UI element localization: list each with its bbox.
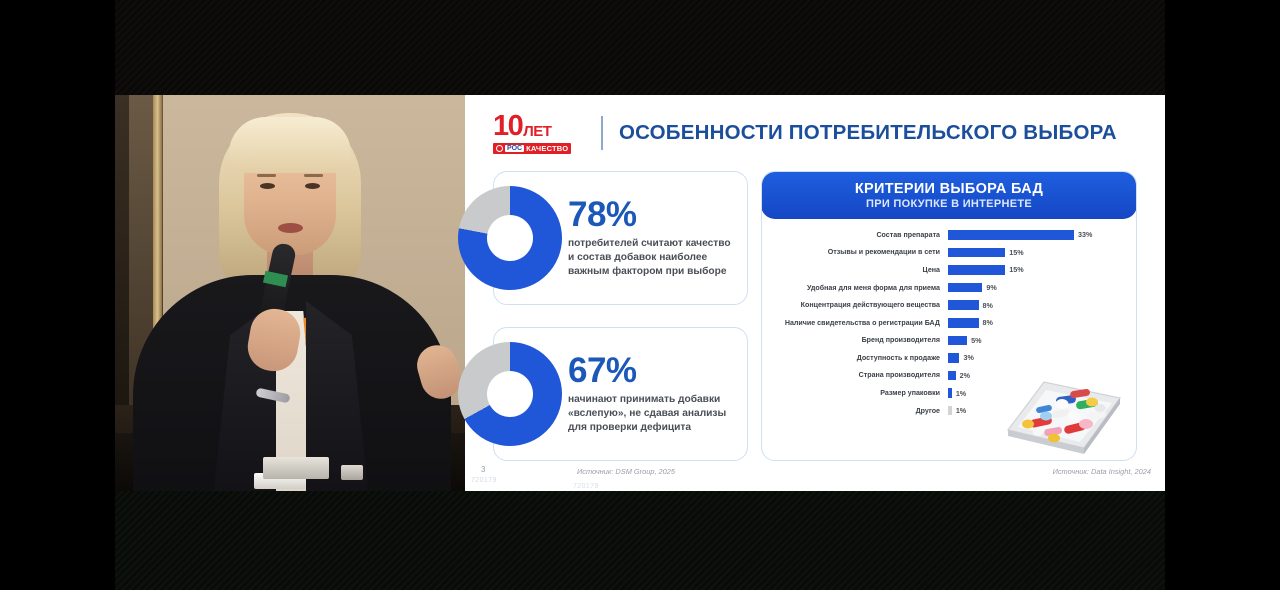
bar-chart: Состав препарата33%Отзывы и рекомендации…	[762, 226, 1130, 454]
bar-value-label: 1%	[956, 389, 966, 398]
donut-chart-78	[458, 186, 562, 290]
bar-row: Состав препарата33%	[762, 226, 1130, 244]
desk-small-object	[341, 465, 363, 480]
page-title: ОСОБЕННОСТИ ПОТРЕБИТЕЛЬСКОГО ВЫБОРА	[619, 121, 1117, 145]
bar-track: 5%	[948, 336, 1130, 346]
stat-description: потребителей считают качество и состав д…	[568, 237, 739, 278]
bar-track: 33%	[948, 230, 1130, 240]
logo-circle-icon	[496, 145, 503, 152]
source-right: Источник: Data Insight, 2024	[1053, 467, 1151, 476]
bar-row: Наличие свидетельства о регистрации БАД8…	[762, 314, 1130, 332]
bar-fill	[948, 336, 967, 346]
bar-category-label: Страна производителя	[762, 371, 948, 379]
speaker-eye-right	[305, 183, 320, 189]
logo-number: 10	[493, 112, 522, 141]
bar-fill	[948, 353, 959, 363]
header-divider	[601, 116, 603, 150]
bar-track: 3%	[948, 353, 1130, 363]
bar-fill	[948, 248, 1005, 258]
bar-category-label: Другое	[762, 407, 948, 415]
bar-row: Доступность к продаже3%	[762, 349, 1130, 367]
logo-kachestvo-text: КАЧЕСТВО	[526, 144, 568, 153]
bar-track: 2%	[948, 371, 1130, 381]
stat-card-67: 67% начинают принимать добавки «вслепую»…	[493, 327, 748, 461]
bar-row: Концентрация действующего вещества8%	[762, 296, 1130, 314]
bar-track: 8%	[948, 318, 1130, 328]
bar-category-label: Удобная для меня форма для приема	[762, 284, 948, 292]
bar-value-label: 33%	[1078, 230, 1092, 239]
bar-value-label: 15%	[1009, 265, 1023, 274]
chart-panel-header: КРИТЕРИИ ВЫБОРА БАД ПРИ ПОКУПКЕ В ИНТЕРН…	[761, 171, 1137, 219]
slide-header: 10 ЛЕТ РОС КАЧЕСТВО ОСОБЕННОСТИ ПОТРЕБИТ…	[493, 109, 1145, 157]
bar-value-label: 3%	[963, 353, 973, 362]
speaker-eyebrow-right	[304, 174, 323, 177]
bar-value-label: 8%	[983, 301, 993, 310]
speaker-video-pane	[115, 95, 465, 491]
stat-text-block: 67% начинают принимать добавки «вслепую»…	[562, 353, 747, 434]
bar-category-label: Состав препарата	[762, 231, 948, 239]
bar-track: 8%	[948, 300, 1130, 310]
chart-title: КРИТЕРИИ ВЫБОРА БАД	[855, 181, 1043, 197]
bar-row: Удобная для меня форма для приема9%	[762, 279, 1130, 297]
letterbox-left	[0, 0, 115, 590]
bar-value-label: 15%	[1009, 248, 1023, 257]
criteria-chart-panel: КРИТЕРИИ ВЫБОРА БАД ПРИ ПОКУПКЕ В ИНТЕРН…	[761, 171, 1137, 461]
bar-fill	[948, 230, 1074, 240]
bar-track: 1%	[948, 406, 1130, 416]
bar-fill	[948, 283, 982, 293]
desk-paper-card	[263, 457, 329, 479]
bar-row: Отзывы и рекомендации в сети15%	[762, 244, 1130, 262]
bar-value-label: 8%	[983, 318, 993, 327]
bar-category-label: Концентрация действующего вещества	[762, 301, 948, 309]
source-left: Источник: DSM Group, 2025	[577, 467, 675, 476]
stat-percent: 67%	[568, 353, 739, 388]
letterbox-right	[1165, 0, 1280, 590]
speaker-mouth	[278, 223, 303, 233]
bar-fill	[948, 318, 979, 328]
bar-category-label: Доступность к продаже	[762, 354, 948, 362]
screen-background: 10 ЛЕТ РОС КАЧЕСТВО ОСОБЕННОСТИ ПОТРЕБИТ…	[0, 0, 1280, 590]
logo-ros-text: РОС	[505, 145, 524, 152]
donut-chart-67	[458, 342, 562, 446]
bar-category-label: Бренд производителя	[762, 336, 948, 344]
bar-row: Бренд производителя5%	[762, 332, 1130, 350]
slide-page-number: 3	[481, 465, 485, 474]
speaker-eyebrow-left	[257, 174, 276, 177]
bar-fill	[948, 388, 952, 398]
stat-text-block: 78% потребителей считают качество и сост…	[562, 197, 747, 278]
letterbox-top	[115, 0, 1165, 95]
bar-value-label: 9%	[986, 283, 996, 292]
watermark-code-secondary: 720179	[573, 483, 599, 490]
bar-row: Другое1%	[762, 402, 1130, 420]
bar-track: 1%	[948, 388, 1130, 398]
bar-fill	[948, 371, 956, 381]
bar-category-label: Размер упаковки	[762, 389, 948, 397]
bar-row: Размер упаковки1%	[762, 384, 1130, 402]
stat-percent: 78%	[568, 197, 739, 232]
stat-card-78: 78% потребителей считают качество и сост…	[493, 171, 748, 305]
bar-track: 15%	[948, 248, 1130, 258]
letterbox-bottom	[115, 490, 1165, 590]
bar-row: Цена15%	[762, 261, 1130, 279]
bar-value-label: 5%	[971, 336, 981, 345]
bar-category-label: Цена	[762, 266, 948, 274]
watermark-code: 720179	[471, 477, 497, 484]
bar-fill	[948, 406, 952, 416]
bar-value-label: 2%	[960, 371, 970, 380]
presentation-slide: 10 ЛЕТ РОС КАЧЕСТВО ОСОБЕННОСТИ ПОТРЕБИТ…	[465, 95, 1165, 491]
bar-category-label: Отзывы и рекомендации в сети	[762, 248, 948, 256]
bar-row: Страна производителя2%	[762, 367, 1130, 385]
bar-value-label: 1%	[956, 406, 966, 415]
bar-track: 15%	[948, 265, 1130, 275]
speaker-eye-left	[260, 183, 275, 189]
stat-description: начинают принимать добавки «вслепую», не…	[568, 393, 739, 434]
roskachestvo-logo: 10 ЛЕТ РОС КАЧЕСТВО	[493, 112, 585, 154]
bar-fill	[948, 300, 979, 310]
bar-track: 9%	[948, 283, 1130, 293]
chart-subtitle: ПРИ ПОКУПКЕ В ИНТЕРНЕТЕ	[866, 198, 1032, 210]
bar-fill	[948, 265, 1005, 275]
logo-brand-bar: РОС КАЧЕСТВО	[493, 143, 571, 154]
bar-category-label: Наличие свидетельства о регистрации БАД	[762, 319, 948, 327]
logo-anniversary: 10 ЛЕТ	[493, 112, 585, 141]
speaker-fringe	[229, 117, 351, 173]
logo-unit: ЛЕТ	[523, 124, 551, 139]
